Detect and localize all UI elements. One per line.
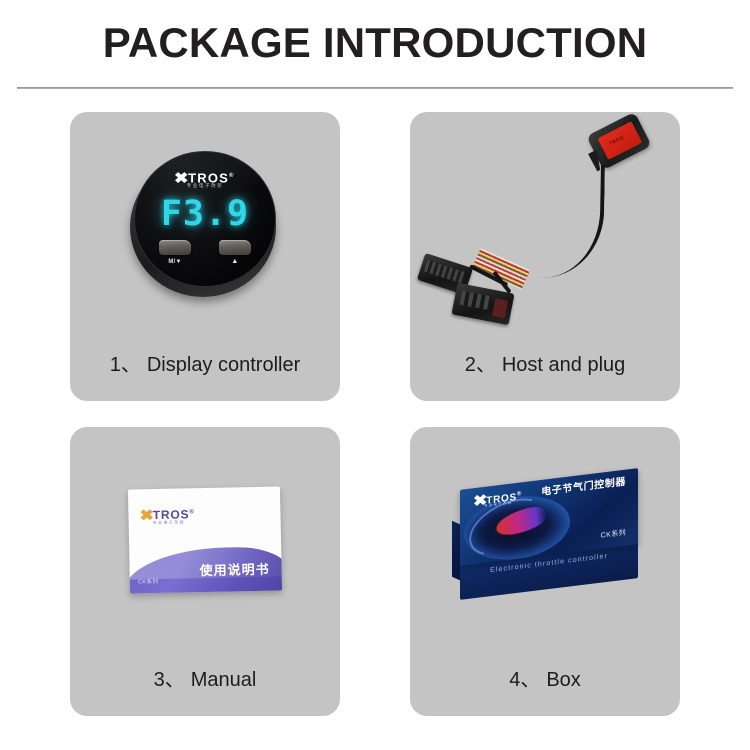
card-label: Host and plug <box>502 354 625 376</box>
dial-assembly: ✖TROS® 专业电子改装 F3.9 M/▼ ▲ <box>130 151 280 299</box>
card-caption: 1、Display controller <box>70 348 340 377</box>
main-cable <box>501 163 605 279</box>
card-label: Manual <box>191 669 257 691</box>
box-series-code: CK系列 <box>601 528 626 540</box>
display-controller-image: ✖TROS® 专业电子改装 F3.9 M/▼ ▲ <box>70 112 340 337</box>
box-image: Electronic throttle controller ✖TROS® 专业… <box>410 427 680 652</box>
manual-cover: ✖TROS® 专业电子改装 使用说明书 CK系列 <box>128 486 282 593</box>
product-card-grid: ✖TROS® 专业电子改装 F3.9 M/▼ ▲ 1、Display contr… <box>70 112 680 716</box>
manual-brand-logo: ✖TROS® <box>140 506 194 521</box>
card-caption: 2、Host and plug <box>410 348 680 377</box>
dial-brand-subtext: 专业电子改装 <box>135 183 275 189</box>
card-label: Display controller <box>147 354 300 376</box>
box-title-chinese: 电子节气门控制器 <box>541 476 626 498</box>
up-button[interactable] <box>219 240 251 255</box>
host-and-plug-image: TROS <box>410 112 680 337</box>
product-card-display-controller[interactable]: ✖TROS® 专业电子改装 F3.9 M/▼ ▲ 1、Display contr… <box>70 112 340 401</box>
card-label: Box <box>546 669 580 691</box>
card-number: 3、 <box>154 669 185 691</box>
product-box: Electronic throttle controller ✖TROS® 专业… <box>452 479 638 601</box>
card-caption: 3、Manual <box>70 663 340 692</box>
page-header: PACKAGE INTRODUCTION <box>0 0 750 92</box>
card-number: 4、 <box>509 669 540 691</box>
card-number: 1、 <box>110 354 141 376</box>
brand-registered-mark: ® <box>189 509 194 515</box>
led-readout: F3.9 <box>135 194 275 234</box>
product-card-manual[interactable]: ✖TROS® 专业电子改装 使用说明书 CK系列 3、Manual <box>70 427 340 716</box>
dial-face: ✖TROS® 专业电子改装 F3.9 M/▼ ▲ <box>134 151 276 287</box>
brand-registered-mark: ® <box>229 173 235 179</box>
manual-series-code: CK系列 <box>138 578 159 585</box>
page-title: PACKAGE INTRODUCTION <box>0 17 750 69</box>
connector-red-insert <box>492 298 508 318</box>
brand-registered-mark: ® <box>517 490 522 497</box>
header-divider <box>17 87 733 89</box>
mode-down-button-label: M/▼ <box>158 258 192 266</box>
manual-booklet: ✖TROS® 专业电子改装 使用说明书 CK系列 <box>128 486 282 593</box>
up-button-label: ▲ <box>218 258 252 266</box>
mode-down-button[interactable] <box>159 240 191 255</box>
manual-image: ✖TROS® 专业电子改装 使用说明书 CK系列 <box>70 427 340 652</box>
product-card-host-and-plug[interactable]: TROS 2、Host and plug <box>410 112 680 401</box>
manual-brand-subtext: 专业电子改装 <box>153 519 186 526</box>
host-label-mark: TROS <box>608 135 625 148</box>
card-number: 2、 <box>465 354 496 376</box>
product-card-box[interactable]: Electronic throttle controller ✖TROS® 专业… <box>410 427 680 716</box>
card-caption: 4、Box <box>410 663 680 692</box>
host-red-label: TROS <box>598 121 643 160</box>
dial-button-row: M/▼ ▲ <box>159 240 251 274</box>
manual-title-chinese: 使用说明书 <box>199 561 269 577</box>
host-harness-assembly: TROS <box>410 112 680 337</box>
